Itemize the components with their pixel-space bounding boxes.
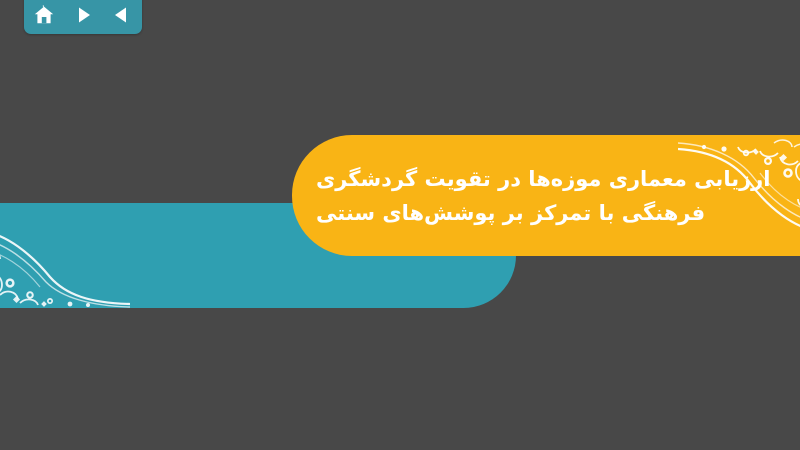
arabesque-corner-ornament xyxy=(678,135,800,256)
title-banner xyxy=(292,135,800,256)
next-slide-button[interactable] xyxy=(69,2,97,28)
home-button[interactable] xyxy=(30,2,58,28)
slide-canvas: ارزیابی معماری موزه‌ها در تقویت گردشگری … xyxy=(0,0,800,450)
home-icon xyxy=(33,4,55,26)
navigation-toolbar xyxy=(24,0,142,34)
previous-slide-button[interactable] xyxy=(108,2,136,28)
arabesque-corner-ornament xyxy=(0,203,130,308)
triangle-right-icon xyxy=(73,5,93,25)
triangle-left-icon xyxy=(112,5,132,25)
